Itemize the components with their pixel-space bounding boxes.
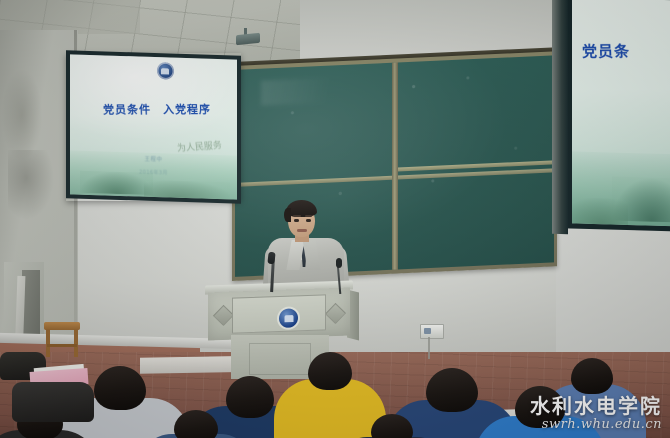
- microphone-head: [267, 252, 275, 265]
- screen-surface: 党员条件 入党程序 王程中 2016年3月 为人民服务: [70, 54, 237, 199]
- audience-member-5-head: [571, 358, 613, 394]
- podium-panel: [232, 294, 326, 333]
- slide-title: 党员条件 入党程序: [78, 101, 236, 118]
- slide-landscape-graphic-right: [572, 151, 670, 226]
- podium-diamond-right: [325, 303, 346, 324]
- microphone-head-2: [336, 258, 342, 268]
- presenter-eye-left: [294, 219, 299, 222]
- watermark: 水利水电学院 swrh.whu.edu.cn: [530, 395, 662, 432]
- podium-diamond-left: [213, 305, 234, 326]
- wall-smudge: [8, 150, 54, 220]
- photo-scene: 党员条件 入党程序 王程中 2016年3月 为人民服务 党员条: [0, 0, 670, 438]
- ceiling-shadow: [0, 0, 140, 34]
- audience-member-2-head: [226, 376, 274, 418]
- chalk-smear: [261, 77, 357, 106]
- university-emblem-icon: [157, 62, 174, 80]
- slide-landscape-graphic: [70, 150, 237, 199]
- audience-member-4-head: [426, 368, 478, 412]
- podium-emblem-icon: [279, 308, 298, 328]
- slide-title-right: 党员条: [582, 40, 631, 61]
- audience-member-3-head: [308, 352, 352, 390]
- watermark-url: swrh.whu.edu.cn: [530, 417, 662, 432]
- presenter-brow-left: [293, 215, 301, 217]
- watermark-chinese: 水利水电学院: [530, 395, 662, 417]
- audience-member-1-head: [94, 366, 146, 410]
- presenter-brow-right: [305, 215, 312, 217]
- black-bag: [12, 382, 94, 422]
- projection-screen-right: 党员条: [566, 0, 670, 230]
- presenter-hair-side: [284, 208, 291, 222]
- presenter-eye-right: [306, 219, 311, 222]
- blackboard-divider: [392, 62, 398, 269]
- wall-smudge-2: [2, 70, 42, 160]
- projector-glow: [70, 54, 237, 144]
- right-screen-edge: [552, 0, 568, 234]
- presenter-mouth: [297, 229, 307, 232]
- projection-screen-left: 党员条件 入党程序 王程中 2016年3月 为人民服务: [66, 53, 241, 201]
- screen-surface-right: 党员条: [572, 0, 670, 227]
